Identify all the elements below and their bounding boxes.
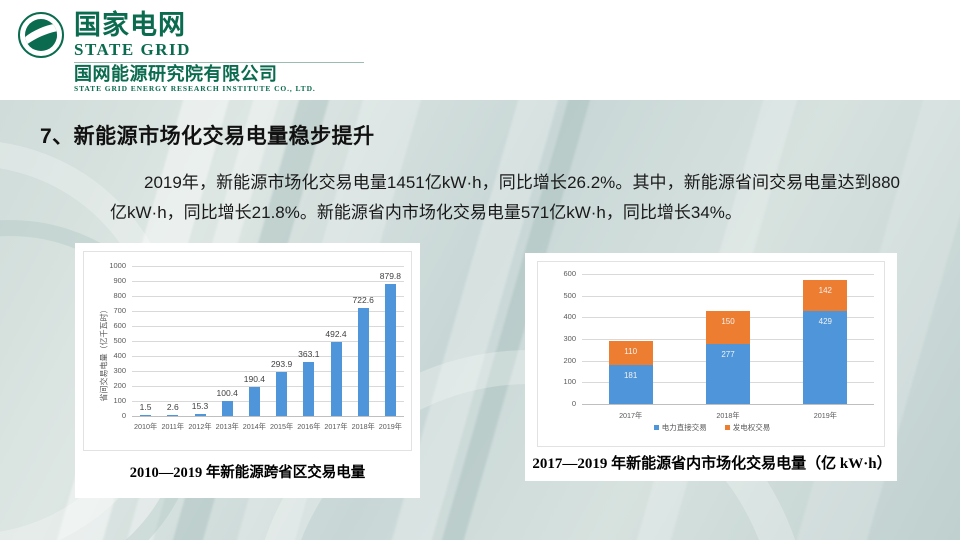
header-divider [74,62,364,63]
x-axis-tick: 2017年 [607,411,655,421]
brand-text-block: 国家电网 STATE GRID [74,10,191,60]
chart-caption-cross-province: 2010—2019 年新能源跨省区交易电量 [75,461,420,482]
y-axis-tick: 1000 [92,261,126,270]
x-axis-line [132,416,404,417]
segment-value-label: 142 [803,286,847,295]
chart-caption-intra-province: 2017—2019 年新能源省内市场化交易电量（亿 kW·h） [517,452,907,473]
y-axis-tick: 300 [544,334,576,343]
chart-plot-intra-province: 电力直接交易发电权交易 0100200300400500600181110201… [537,261,885,447]
bar-value-label: 492.4 [312,329,360,339]
y-axis-tick: 0 [544,399,576,408]
page-title: 7、新能源市场化交易电量稳步提升 [40,120,375,150]
legend-swatch-icon [654,425,659,430]
chart-card-cross-province: 省间交易电量（亿千瓦时） 010020030040050060070080090… [75,243,420,498]
y-axis-tick: 900 [92,276,126,285]
gridline [582,274,874,275]
segment-value-label: 110 [609,347,653,356]
gridline [132,266,404,267]
y-axis-tick: 300 [92,366,126,375]
bar-value-label: 363.1 [285,349,333,359]
state-grid-globe-icon [18,12,68,62]
y-axis-tick: 200 [92,381,126,390]
stacked-bar-segment [803,280,847,311]
segment-value-label: 181 [609,371,653,380]
bar [222,401,233,416]
bar [276,372,287,416]
legend-label: 电力直接交易 [662,423,707,432]
institute-name-en: STATE GRID ENERGY RESEARCH INSTITUTE CO.… [74,84,316,93]
bar-value-label: 293.9 [258,359,306,369]
brand-name-cn: 国家电网 [74,10,191,40]
x-axis-line [582,404,874,405]
y-axis-tick: 600 [544,269,576,278]
chart-legend-intra-province: 电力直接交易发电权交易 [538,422,886,433]
gridline [132,281,404,282]
header-band: 国家电网 STATE GRID 国网能源研究院有限公司 STATE GRID E… [0,0,960,100]
chart-plot-cross-province: 省间交易电量（亿千瓦时） 010020030040050060070080090… [83,251,412,451]
bar-value-label: 190.4 [230,374,278,384]
segment-value-label: 429 [803,317,847,326]
y-axis-tick: 200 [544,356,576,365]
y-axis-tick: 500 [92,336,126,345]
x-axis-tick: 2019年 [801,411,849,421]
brand-name-en: STATE GRID [74,40,191,60]
chart-card-intra-province: 电力直接交易发电权交易 0100200300400500600181110201… [525,253,897,481]
segment-value-label: 277 [706,350,750,359]
body-paragraph: 2019年，新能源市场化交易电量1451亿kW·h，同比增长26.2%。其中，新… [110,168,900,228]
logo-globe [25,19,57,51]
segment-value-label: 150 [706,317,750,326]
y-axis-tick: 400 [544,312,576,321]
legend-item[interactable]: 发电权交易 [725,422,771,433]
y-axis-tick: 0 [92,411,126,420]
y-axis-tick: 100 [544,377,576,386]
bar [331,342,342,416]
bar [249,387,260,416]
bar [358,308,369,416]
bar-value-label: 722.6 [339,295,387,305]
x-axis-tick: 2019年 [374,422,406,432]
y-axis-tick: 800 [92,291,126,300]
bar-value-label: 15.3 [176,401,224,411]
y-axis-tick: 400 [92,351,126,360]
bar [303,362,314,416]
legend-swatch-icon [725,425,730,430]
bar-value-label: 100.4 [203,388,251,398]
legend-item[interactable]: 电力直接交易 [654,422,707,433]
legend-label: 发电权交易 [733,423,771,432]
institute-name-cn: 国网能源研究院有限公司 [74,64,278,84]
y-axis-tick: 600 [92,321,126,330]
bar-value-label: 879.8 [366,271,414,281]
bar [385,284,396,416]
slide-root: 国家电网 STATE GRID 国网能源研究院有限公司 STATE GRID E… [0,0,960,540]
y-axis-tick: 500 [544,291,576,300]
stacked-bar-segment [706,311,750,344]
x-axis-tick: 2018年 [704,411,752,421]
y-axis-tick: 700 [92,306,126,315]
